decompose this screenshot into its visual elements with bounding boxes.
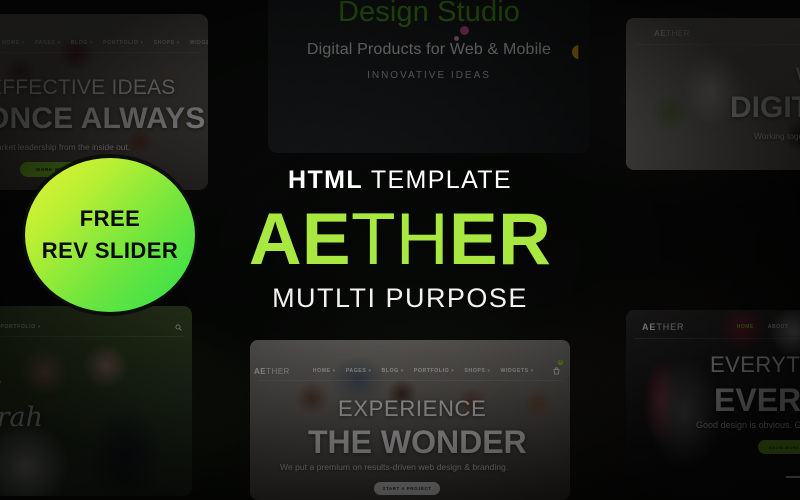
design-studio-title: Design Studio: [268, 0, 590, 29]
panel-the-wonder[interactable]: AETHER HOME▾ PAGES▾ BLOG▾ PORTFOLIO▾ SHO…: [250, 340, 570, 500]
panel-c-headline-2: DIGITAL: [730, 91, 800, 125]
panel-a-nav-divider: [0, 52, 200, 53]
panel-a-subline: Market leadership from the inside out.: [0, 142, 130, 152]
hero-kicker-bold: HTML: [288, 166, 363, 194]
panel-e-nav-actions: 0: [553, 362, 560, 380]
decorative-dot-large: [460, 26, 469, 35]
nav-item-portfolio[interactable]: PORTFOLIO▾: [414, 368, 455, 374]
panel-f-slider-indicator[interactable]: [786, 476, 800, 478]
chevron-down-icon: ▾: [451, 368, 454, 374]
panel-wedding[interactable]: BLOG▾ PORTFOLIO▾ the one Sarah: [0, 306, 192, 496]
panel-d-navbar: BLOG▾ PORTFOLIO▾: [0, 320, 192, 334]
nav-item-about[interactable]: ABOUT: [768, 324, 789, 330]
panel-c-subline: Working together: [754, 131, 800, 141]
nav-item-widgets[interactable]: WIDGETS▾: [190, 40, 208, 46]
panel-a-headline-1: EFFECTIVE IDEAS: [0, 76, 176, 100]
panel-c-nav-divider: [634, 44, 800, 45]
chevron-down-icon: ▾: [22, 40, 25, 46]
nav-item-home[interactable]: HOME: [737, 324, 754, 330]
panel-everything[interactable]: AETHER HOME ABOUT SERVICES EVERYTHING EV…: [626, 310, 800, 490]
design-studio-tagline: INNOVATIVE IDEAS: [268, 70, 590, 81]
chevron-down-icon: ▾: [90, 40, 93, 46]
panel-design-studio[interactable]: Design Studio Digital Products for Web &…: [268, 0, 590, 153]
panel-f-headline-2: EVERY: [714, 382, 800, 419]
nav-item-widgets[interactable]: WIDGETS▾: [500, 368, 533, 374]
nav-item-home[interactable]: HOME▾: [2, 40, 25, 46]
free-rev-slider-badge[interactable]: FREE REV SLIDER: [22, 155, 198, 315]
panel-f-navbar: AETHER HOME ABOUT SERVICES: [626, 320, 800, 334]
panel-d-nav-actions: [175, 318, 182, 336]
nav-item-pages[interactable]: PAGES▾: [346, 368, 372, 374]
chevron-down-icon: ▾: [401, 368, 404, 374]
panel-f-cta-button[interactable]: KNOW MORE: [758, 440, 800, 454]
panel-e-navbar: AETHER HOME▾ PAGES▾ BLOG▾ PORTFOLIO▾ SHO…: [250, 364, 570, 378]
panel-f-logo[interactable]: AETHER: [642, 322, 684, 332]
panel-e-subline: We put a premium on results-driven web d…: [280, 462, 508, 472]
chevron-down-icon: ▾: [333, 368, 336, 374]
panel-a-nav-links: HOME▾ PAGES▾ BLOG▾ PORTFOLIO▾ SHOPS▾ WID…: [2, 40, 208, 46]
chevron-down-icon: ▾: [140, 40, 143, 46]
panel-e-headline-2: THE WONDER: [308, 424, 527, 461]
panel-f-nav-divider: [634, 338, 800, 339]
decorative-dot-small: [454, 36, 459, 41]
panel-e-logo[interactable]: AETHER: [254, 367, 290, 376]
badge-line-1: FREE: [80, 206, 140, 232]
panel-d-overlay: [0, 306, 192, 496]
panel-c-headline-1: WELCOME: [796, 63, 800, 89]
design-studio-subtitle: Digital Products for Web & Mobile: [268, 41, 590, 59]
panel-d-nav-divider: [0, 336, 184, 337]
panel-e-nav-links: HOME▾ PAGES▾ BLOG▾ PORTFOLIO▾ SHOPS▾ WID…: [313, 368, 534, 374]
hero-title-part-c: ER: [449, 199, 551, 280]
panel-d-script-2: Sarah: [0, 402, 43, 433]
hero-kicker-light: TEMPLATE: [363, 166, 512, 194]
search-icon[interactable]: [175, 318, 182, 336]
cart-icon[interactable]: 0: [553, 362, 560, 380]
chevron-down-icon: ▾: [487, 368, 490, 374]
panel-e-cta-button[interactable]: START A PROJECT: [374, 482, 440, 495]
panel-c-navbar: AETHER HOME▾: [626, 26, 800, 40]
nav-item-shops[interactable]: SHOPS▾: [464, 368, 490, 374]
panel-a-navbar: HOME▾ PAGES▾ BLOG▾ PORTFOLIO▾ SHOPS▾ WID…: [0, 36, 208, 50]
panel-welcome-digital[interactable]: AETHER HOME▾ WELCOME DIGITAL Working tog…: [626, 18, 800, 170]
nav-item-home[interactable]: HOME▾: [313, 368, 336, 374]
panel-f-nav-links: HOME ABOUT SERVICES: [737, 324, 800, 330]
panel-f-subline: Good design is obvious. G: [696, 420, 800, 430]
panel-c-logo[interactable]: AETHER: [654, 29, 690, 38]
panel-b-inner: Design Studio Digital Products for Web &…: [268, 0, 590, 153]
panel-a-headline-2: ONCE ALWAYS: [0, 102, 205, 136]
chevron-down-icon: ▾: [368, 368, 371, 374]
nav-item-blog[interactable]: BLOG▾: [381, 368, 403, 374]
chevron-down-icon: ▾: [531, 368, 534, 374]
badge-line-2: REV SLIDER: [42, 238, 178, 264]
nav-item-shops[interactable]: SHOPS▾: [154, 40, 180, 46]
panel-e-nav-divider: [258, 380, 562, 381]
cart-count-badge: 0: [558, 360, 563, 365]
hero-title-part-a: AE: [249, 199, 351, 280]
chevron-down-icon: ▾: [38, 324, 41, 330]
panel-e-headline-1: EXPERIENCE: [338, 396, 486, 422]
nav-item-pages[interactable]: PAGES▾: [35, 40, 61, 46]
hero-title-part-b: TH: [351, 199, 449, 280]
chevron-down-icon: ▾: [58, 40, 61, 46]
nav-item-portfolio[interactable]: PORTFOLIO▾: [103, 40, 144, 46]
panel-f-headline-1: EVERYTHING: [710, 352, 800, 378]
preview-canvas: HOME▾ PAGES▾ BLOG▾ PORTFOLIO▾ SHOPS▾ WID…: [0, 0, 800, 500]
panel-d-script-1: the one: [0, 376, 1, 391]
chevron-down-icon: ▾: [177, 40, 180, 46]
nav-item-blog[interactable]: BLOG▾: [71, 40, 93, 46]
nav-item-portfolio[interactable]: PORTFOLIO▾: [0, 324, 41, 330]
panel-d-nav-links: BLOG▾ PORTFOLIO▾: [0, 324, 41, 330]
